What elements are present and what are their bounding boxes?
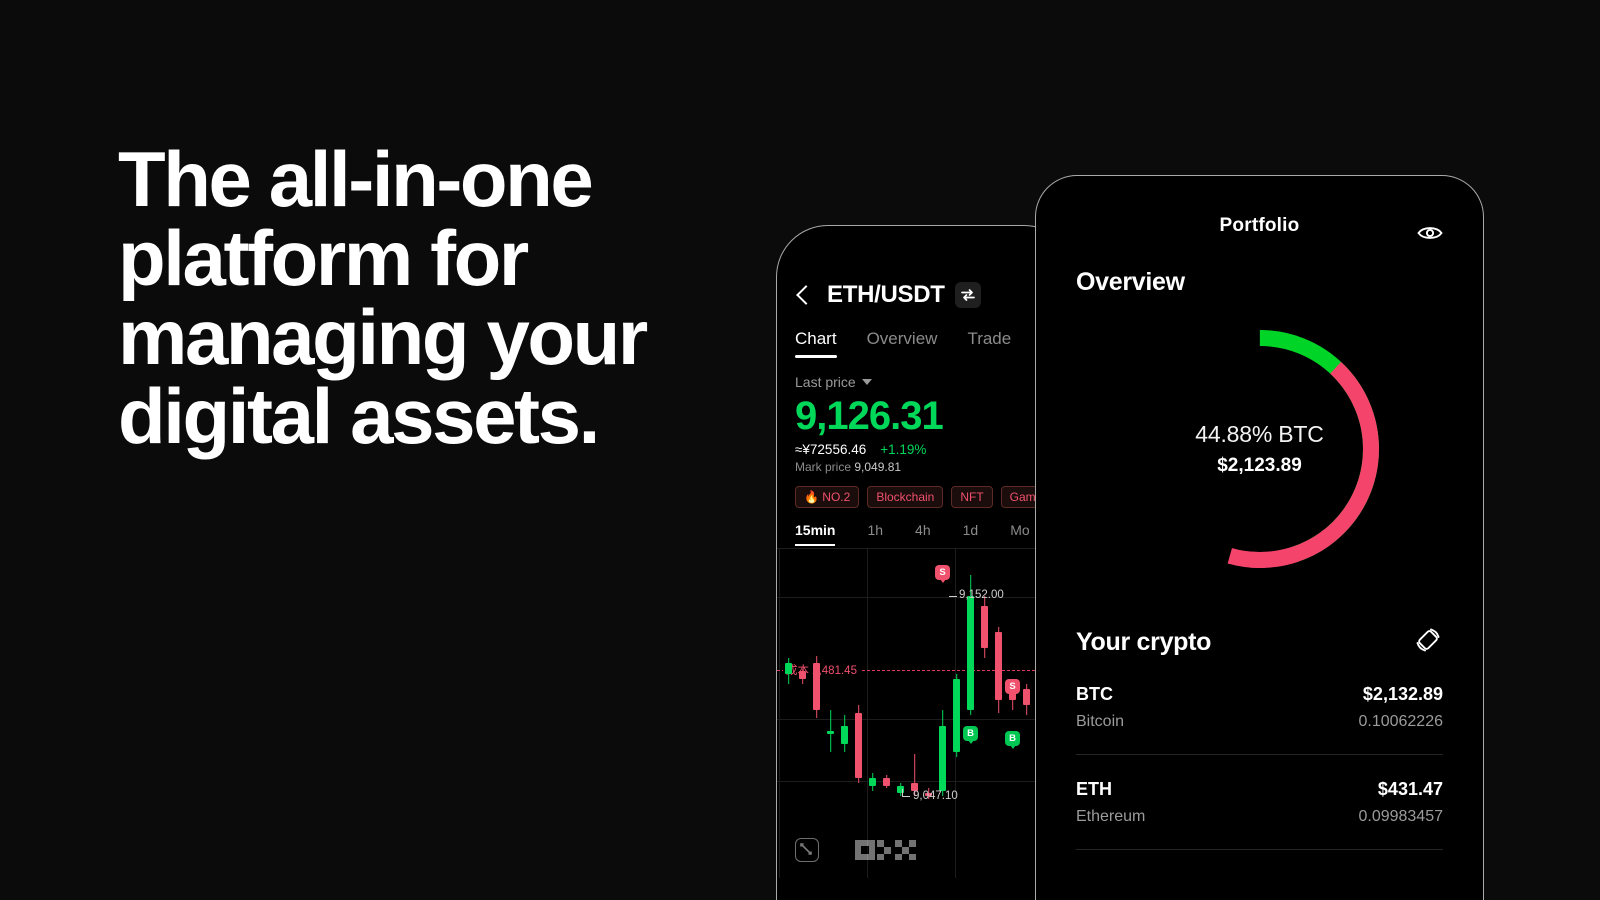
- chart-footer: [777, 822, 1075, 878]
- tab-chart[interactable]: Chart: [795, 329, 837, 358]
- trade-header: ETH/USDT: [777, 226, 1075, 309]
- timeframe-1d[interactable]: 1d: [963, 522, 979, 546]
- table-row[interactable]: ETH Ethereum $431.47 0.09983457: [1076, 755, 1443, 850]
- allocation-donut-chart[interactable]: 44.88% BTC $2,123.89: [1130, 319, 1390, 579]
- donut-percentage: 44.88% BTC: [1195, 421, 1323, 448]
- expand-icon[interactable]: [795, 838, 819, 862]
- sell-marker: S: [1005, 679, 1020, 694]
- cost-line-label: 成本 2,481.45: [783, 662, 860, 678]
- your-crypto-title: Your crypto: [1076, 628, 1211, 657]
- tag-nft[interactable]: NFT: [951, 486, 992, 508]
- trading-phone-mockup: ETH/USDT Chart Overview Trade Last price…: [776, 225, 1076, 900]
- timeframe-1h[interactable]: 1h: [867, 522, 883, 546]
- table-row[interactable]: BTC Bitcoin $2,132.89 0.10062226: [1076, 660, 1443, 755]
- headline-line-1: The all-in-one: [118, 140, 758, 219]
- crypto-value: $2,132.89: [1358, 682, 1443, 707]
- donut-value: $2,123.89: [1217, 455, 1302, 477]
- headline-line-2: platform for: [118, 219, 758, 298]
- timeframe-row: 15min 1h 4h 1d Mo: [777, 508, 1075, 546]
- donut-center-labels: 44.88% BTC $2,123.89: [1130, 319, 1390, 579]
- crypto-row-right: $2,132.89 0.10062226: [1358, 682, 1443, 734]
- mark-price-row: Mark price 9,049.81: [795, 460, 1075, 474]
- mark-price-label: Mark price: [795, 460, 851, 474]
- crypto-name: Ethereum: [1076, 804, 1145, 829]
- crypto-symbol: BTC: [1076, 682, 1124, 707]
- portfolio-topbar: Portfolio: [1076, 176, 1443, 276]
- chevron-left-icon[interactable]: [796, 285, 816, 305]
- price-sub-row: ≈¥72556.46 +1.19%: [795, 442, 1075, 457]
- tag-blockchain[interactable]: Blockchain: [867, 486, 943, 508]
- tag-no2-label: NO.2: [822, 490, 850, 504]
- high-price-label: 9,152.00: [959, 589, 1004, 601]
- page-title: Portfolio: [1220, 215, 1300, 237]
- low-tick: [902, 789, 910, 797]
- trade-screen: ETH/USDT Chart Overview Trade Last price…: [777, 226, 1075, 900]
- portfolio-screen: Portfolio Overview: [1036, 176, 1483, 900]
- trade-tabs: Chart Overview Trade: [777, 309, 1075, 358]
- tag-row: 🔥 NO.2 Blockchain NFT Game: [777, 474, 1075, 508]
- crypto-row-left: BTC Bitcoin: [1076, 682, 1124, 734]
- low-price-label: 9,047.10: [913, 790, 958, 802]
- your-crypto-header: Your crypto: [1076, 625, 1443, 660]
- crypto-amount: 0.09983457: [1358, 804, 1443, 829]
- last-price-label: Last price: [795, 374, 856, 390]
- timeframe-4h[interactable]: 4h: [915, 522, 931, 546]
- last-price-selector[interactable]: Last price: [795, 374, 1075, 390]
- portfolio-phone-mockup: Portfolio Overview: [1035, 175, 1484, 900]
- mark-price-value: 9,049.81: [854, 460, 901, 474]
- tab-overview[interactable]: Overview: [867, 329, 938, 358]
- crypto-name: Bitcoin: [1076, 709, 1124, 734]
- buy-marker: B: [963, 726, 978, 741]
- price-block: Last price 9,126.31 ≈¥72556.46 +1.19% Ma…: [777, 358, 1075, 474]
- screen-rotate-icon[interactable]: [1413, 625, 1443, 660]
- crypto-row-left: ETH Ethereum: [1076, 777, 1145, 829]
- hero-headline: The all-in-one platform for managing you…: [118, 140, 758, 456]
- okx-logo: [855, 840, 917, 860]
- chevron-down-icon: [862, 379, 872, 385]
- crypto-row-right: $431.47 0.09983457: [1358, 777, 1443, 829]
- eye-icon[interactable]: [1417, 224, 1443, 247]
- high-tick: [949, 596, 957, 597]
- pair-title[interactable]: ETH/USDT: [827, 281, 945, 309]
- buy-marker: B: [1005, 731, 1020, 746]
- sell-marker: S: [935, 565, 950, 580]
- last-price-value: 9,126.31: [795, 392, 1075, 440]
- flame-icon: 🔥: [804, 490, 819, 504]
- timeframe-more[interactable]: Mo: [1010, 522, 1029, 546]
- price-change: +1.19%: [880, 442, 926, 457]
- crypto-symbol: ETH: [1076, 777, 1145, 802]
- headline-line-4: digital assets.: [118, 377, 758, 456]
- fiat-price: ≈¥72556.46: [795, 442, 866, 457]
- tag-no2[interactable]: 🔥 NO.2: [795, 486, 859, 508]
- tab-trade[interactable]: Trade: [967, 329, 1011, 358]
- timeframe-15min[interactable]: 15min: [795, 522, 835, 546]
- candlestick-chart[interactable]: 成本 2,481.45 SBSB 9,152.00 9,047.10: [777, 548, 1075, 878]
- swap-icon[interactable]: [955, 282, 981, 308]
- crypto-amount: 0.10062226: [1358, 709, 1443, 734]
- headline-line-3: managing your: [118, 298, 758, 377]
- crypto-value: $431.47: [1358, 777, 1443, 802]
